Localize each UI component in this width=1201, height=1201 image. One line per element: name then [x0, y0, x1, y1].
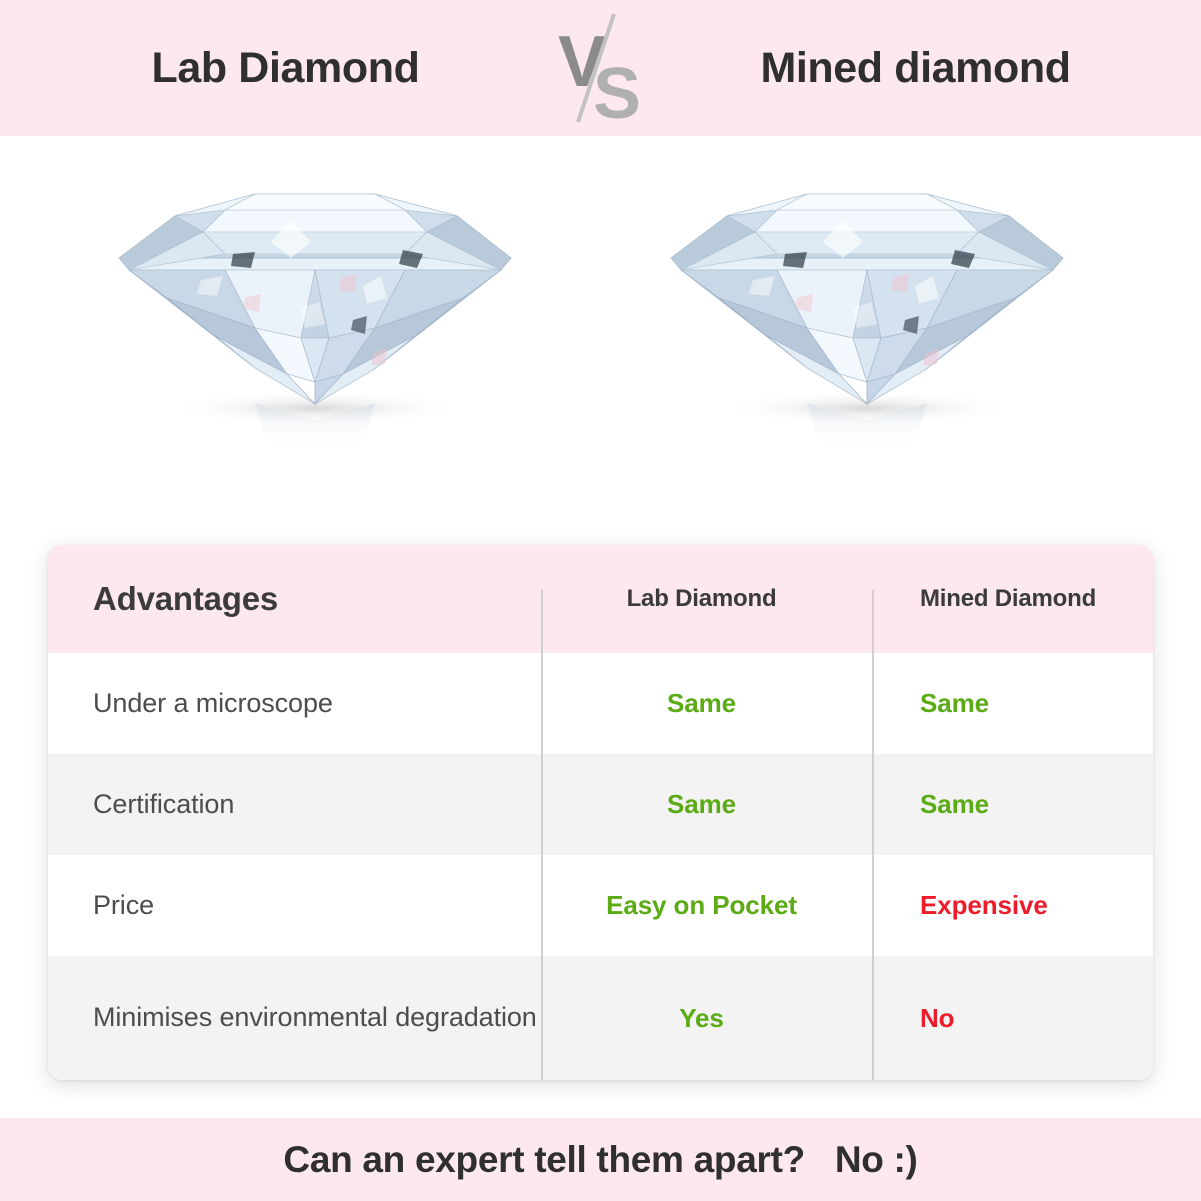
column-divider-2: [872, 653, 874, 754]
row-feature-label: Minimises environmental degradation: [93, 999, 537, 1036]
table-row: Certification Same Same: [48, 754, 1153, 855]
row-lab-value: Same: [667, 688, 736, 719]
column-divider-1: [541, 653, 543, 754]
vs-letter-s-glyph: S: [593, 54, 641, 128]
header-label-lab-diamond: Lab Diamond: [627, 585, 777, 613]
row-lab-value: Easy on Pocket: [606, 890, 797, 921]
diamond-image-stage: [0, 136, 1201, 536]
row-lab-cell: Easy on Pocket: [541, 855, 872, 956]
row-mined-value: Expensive: [920, 890, 1048, 921]
table-row: Minimises environmental degradation Yes …: [48, 956, 1153, 1080]
header-label-advantages: Advantages: [93, 580, 278, 618]
header-cell-mined-diamond: Mined Diamond: [872, 545, 1153, 653]
row-lab-cell: Same: [541, 653, 872, 754]
column-divider-2: [872, 590, 874, 653]
row-mined-value: Same: [920, 688, 989, 719]
row-feature-label: Certification: [93, 786, 234, 823]
row-feature-label: Price: [93, 887, 154, 924]
row-lab-value: Same: [667, 789, 736, 820]
table-row: Under a microscope Same Same: [48, 653, 1153, 754]
row-mined-cell: Same: [872, 653, 1153, 754]
row-lab-value: Yes: [679, 1003, 724, 1034]
row-mined-cell: Expensive: [872, 855, 1153, 956]
column-divider-1: [541, 590, 543, 653]
row-feature-cell: Price: [48, 855, 541, 956]
column-divider-2: [872, 754, 874, 855]
comparison-table: Advantages Lab Diamond Mined Diamond Und…: [48, 545, 1153, 1080]
table-header-row: Advantages Lab Diamond Mined Diamond: [48, 545, 1153, 653]
column-divider-2: [872, 956, 874, 1080]
header-titles: Lab Diamond V S Mined diamond: [0, 8, 1201, 128]
row-mined-value: No: [920, 1003, 954, 1034]
vs-icon: V S: [546, 8, 656, 128]
row-lab-cell: Yes: [541, 956, 872, 1080]
column-divider-1: [541, 855, 543, 956]
header-cell-advantages: Advantages: [48, 545, 541, 653]
page-title-lab-diamond: Lab Diamond: [26, 44, 546, 93]
row-mined-cell: No: [872, 956, 1153, 1080]
page-title-mined-diamond: Mined diamond: [656, 44, 1176, 93]
table-row: Price Easy on Pocket Expensive: [48, 855, 1153, 956]
row-feature-label: Under a microscope: [93, 685, 333, 722]
header-label-mined-diamond: Mined Diamond: [920, 585, 1096, 613]
row-mined-cell: Same: [872, 754, 1153, 855]
column-divider-1: [541, 956, 543, 1080]
footer-question: Can an expert tell them apart? No :): [283, 1139, 917, 1181]
footer-band: Can an expert tell them apart? No :): [0, 1118, 1201, 1201]
header-cell-lab-diamond: Lab Diamond: [541, 545, 872, 653]
mined-diamond-image: [657, 158, 1077, 458]
column-divider-2: [872, 855, 874, 956]
row-mined-value: Same: [920, 789, 989, 820]
header-band: Lab Diamond V S Mined diamond: [0, 0, 1201, 136]
lab-diamond-image: [105, 158, 525, 458]
column-divider-1: [541, 754, 543, 855]
row-feature-cell: Under a microscope: [48, 653, 541, 754]
row-feature-cell: Minimises environmental degradation: [48, 956, 541, 1080]
row-lab-cell: Same: [541, 754, 872, 855]
row-feature-cell: Certification: [48, 754, 541, 855]
